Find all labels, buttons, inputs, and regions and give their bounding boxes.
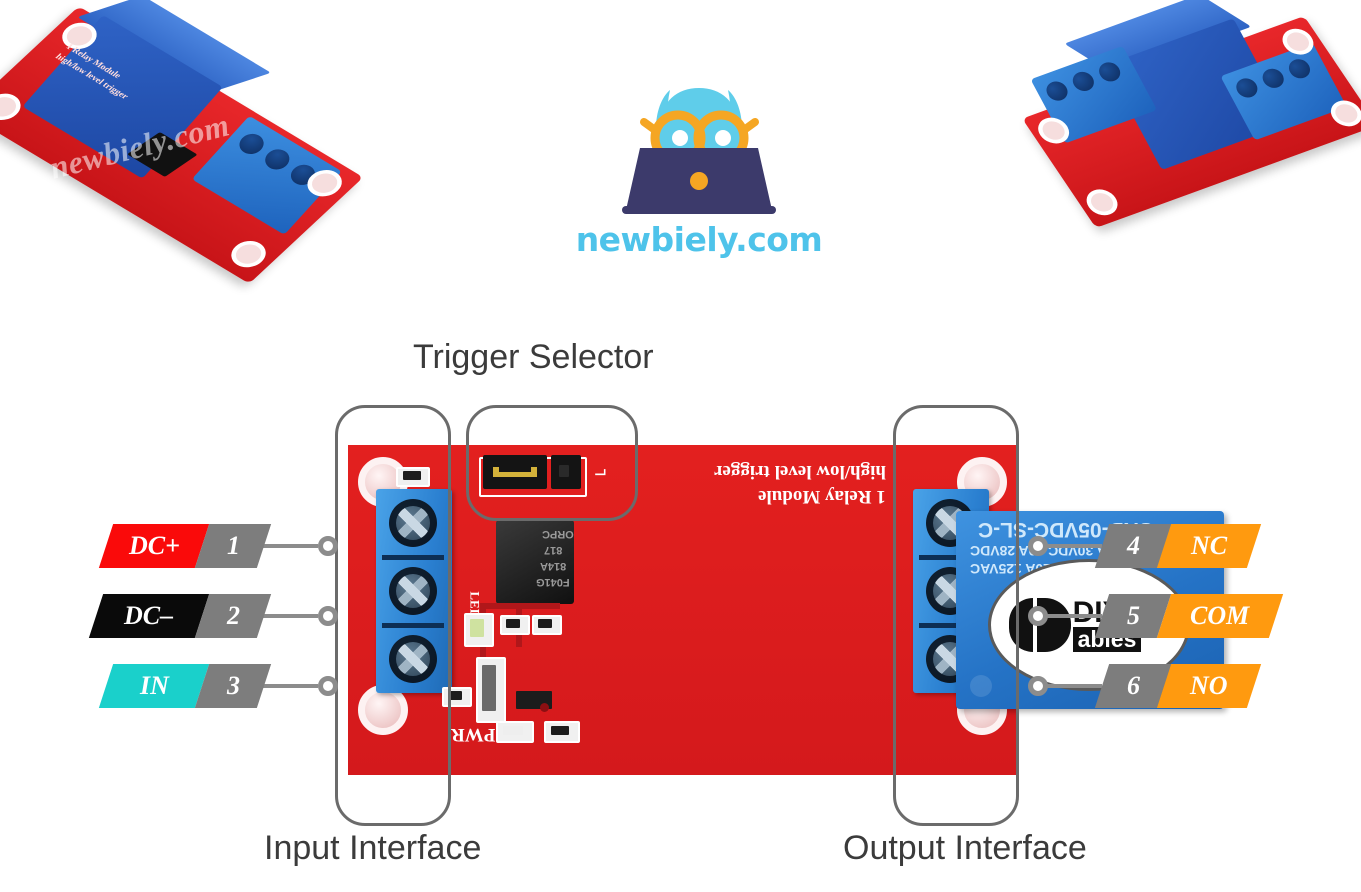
pin-1-connector-dot[interactable] bbox=[318, 536, 338, 556]
pin-label-6[interactable]: 6 NO bbox=[1028, 664, 1254, 708]
relay-module-photo-right bbox=[1040, 0, 1361, 246]
pin-3-name-chip: IN bbox=[99, 664, 209, 708]
pin-6-leader-line bbox=[1044, 684, 1102, 688]
pin-2-label: DC– bbox=[124, 601, 173, 631]
board-title-line1: high/low level trigger bbox=[714, 460, 886, 482]
pin-5-label: COM bbox=[1190, 601, 1249, 631]
pin-2-name-chip: DC– bbox=[89, 594, 209, 638]
pin-3-number-chip: 3 bbox=[195, 664, 271, 708]
output-interface-bracket bbox=[893, 405, 1019, 826]
optocoupler-chip: ORPC 817 814A F041G bbox=[496, 520, 574, 604]
pin-label-4[interactable]: 4 NC bbox=[1028, 524, 1254, 568]
input-interface-heading: Input Interface bbox=[264, 829, 481, 868]
pin-2-number: 2 bbox=[227, 601, 240, 631]
opto-line2: 817 bbox=[544, 544, 562, 556]
pin-1-number: 1 bbox=[227, 531, 240, 561]
owl-laptop-icon bbox=[566, 86, 832, 216]
pin-3-label: IN bbox=[140, 671, 169, 701]
pin-6-number: 6 bbox=[1127, 671, 1140, 701]
pin-label-1[interactable]: DC+ 1 bbox=[106, 524, 338, 568]
trigger-selector-bracket bbox=[466, 405, 638, 521]
output-interface-heading: Output Interface bbox=[843, 829, 1087, 868]
pin-2-connector-dot[interactable] bbox=[318, 606, 338, 626]
pin-6-label: NO bbox=[1190, 671, 1228, 701]
site-logo: newbiely.com bbox=[566, 86, 832, 276]
opto-line1: ORPC bbox=[542, 528, 574, 540]
pin-1-leader-line bbox=[260, 544, 318, 548]
silk-pwr: PWR bbox=[451, 723, 495, 745]
opto-line3: 814A bbox=[540, 560, 566, 572]
pin-label-5[interactable]: 5 COM bbox=[1028, 594, 1276, 638]
pin-6-name-chip: NO bbox=[1157, 664, 1261, 708]
pin-1-name-chip: DC+ bbox=[99, 524, 209, 568]
pin-4-number: 4 bbox=[1127, 531, 1140, 561]
board-title-line2: 1 Relay Module bbox=[758, 485, 886, 507]
pin-2-number-chip: 2 bbox=[195, 594, 271, 638]
pin-5-name-chip: COM bbox=[1157, 594, 1283, 638]
pin-4-leader-line bbox=[1044, 544, 1102, 548]
pin-4-label: NC bbox=[1191, 531, 1227, 561]
pin-3-number: 3 bbox=[227, 671, 240, 701]
pin-1-number-chip: 1 bbox=[195, 524, 271, 568]
brand-text: newbiely.com bbox=[566, 220, 832, 259]
pin-5-number: 5 bbox=[1127, 601, 1140, 631]
pin-label-3[interactable]: IN 3 bbox=[106, 664, 338, 708]
pin-4-name-chip: NC bbox=[1157, 524, 1261, 568]
pin-5-leader-line bbox=[1044, 614, 1102, 618]
trigger-selector-heading: Trigger Selector bbox=[413, 338, 654, 377]
pin-1-label: DC+ bbox=[129, 531, 180, 561]
pin-label-2[interactable]: DC– 2 bbox=[96, 594, 338, 638]
pin-3-leader-line bbox=[260, 684, 318, 688]
input-interface-bracket bbox=[335, 405, 451, 826]
pin-3-connector-dot[interactable] bbox=[318, 676, 338, 696]
relay-module-photo-left: 1 Relay Module high/low level trigger ne… bbox=[0, 0, 380, 292]
pin-2-leader-line bbox=[260, 614, 318, 618]
opto-line4: F041G bbox=[536, 576, 570, 588]
